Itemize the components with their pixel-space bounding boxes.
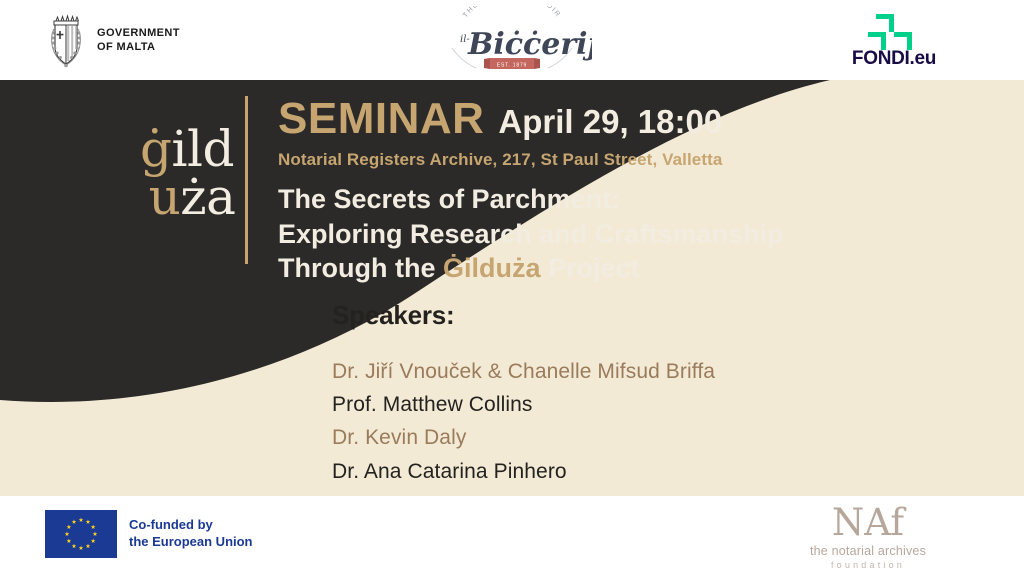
gilduza-highlight: Ġilduża — [443, 253, 541, 283]
eu-cofunding-label: Co-funded by the European Union — [129, 517, 253, 551]
speaker-item: Dr. Ana Catarina Pinhero — [332, 455, 715, 488]
gilduza-wordmark-line1: ġild — [128, 125, 246, 173]
seminar-line: SEMINAR April 29, 18:00 — [278, 94, 784, 144]
footer-logo-band: Co-funded by the European Union NAf the … — [0, 496, 1024, 576]
fondi-eu-label: FONDI.eu — [834, 48, 954, 70]
seminar-title-line1: The Secrets of Parchment: — [278, 182, 784, 217]
biccerija-logo: THE PUBLIC ABATTOIR il- Biċċerija EST. 1… — [432, 6, 592, 74]
speakers-list: Dr. Jiří Vnouček & Chanelle Mifsud Briff… — [332, 355, 715, 488]
headline-block: SEMINAR April 29, 18:00 Notarial Registe… — [278, 94, 784, 286]
naf-subtitle: the notarial archives — [780, 544, 956, 558]
seminar-poster: GOVERNMENT OF MALTA THE PUBLIC ABATTOIR … — [0, 0, 1024, 576]
gilduza-wordmark-line2: uża — [138, 173, 246, 221]
speaker-item: Prof. Matthew Collins — [332, 388, 715, 421]
speakers-heading: Speakers: — [332, 300, 715, 331]
biccerija-banner: EST. 1879 — [484, 58, 540, 69]
naf-tagline: foundation — [780, 560, 956, 570]
speaker-item: Dr. Kevin Daly — [332, 421, 715, 454]
vertical-divider-rule — [245, 96, 248, 264]
notarial-archives-foundation-logo: NAf the notarial archives foundation — [780, 504, 956, 570]
fondi-eu-logo: FONDI.eu — [834, 10, 954, 72]
speakers-section: Speakers: Dr. Jiří Vnouček & Chanelle Mi… — [332, 300, 715, 488]
seminar-title-line3: Through the Ġilduża Project — [278, 251, 784, 286]
seminar-venue: Notarial Registers Archive, 217, St Paul… — [278, 150, 784, 170]
government-of-malta-logo: GOVERNMENT OF MALTA — [45, 12, 180, 70]
seminar-kicker: SEMINAR — [278, 94, 484, 144]
government-of-malta-label: GOVERNMENT OF MALTA — [97, 27, 180, 55]
seminar-title-line2: Exploring Research and Craftsmanship — [278, 217, 784, 252]
seminar-title: The Secrets of Parchment: Exploring Rese… — [278, 182, 784, 286]
biccerija-arc-text: THE PUBLIC ABATTOIR — [462, 6, 562, 19]
naf-monogram: NAf — [780, 504, 956, 543]
gilduza-wordmark: ġild uża — [128, 125, 246, 221]
header-logo-band: GOVERNMENT OF MALTA THE PUBLIC ABATTOIR … — [0, 0, 1024, 80]
malta-coat-of-arms-icon — [45, 12, 87, 70]
poster-stage: ġild uża SEMINAR April 29, 18:00 Notaria… — [0, 80, 1024, 496]
european-union-flag-icon — [45, 510, 117, 558]
speaker-item: Dr. Jiří Vnouček & Chanelle Mifsud Briff… — [332, 355, 715, 388]
svg-text:EST. 1879: EST. 1879 — [497, 63, 527, 69]
eu-cofunding-logo: Co-funded by the European Union — [45, 510, 253, 558]
biccerija-wordmark: Biċċerija — [467, 27, 592, 62]
seminar-datetime: April 29, 18:00 — [498, 103, 722, 141]
svg-text:THE PUBLIC ABATTOIR: THE PUBLIC ABATTOIR — [462, 6, 562, 19]
